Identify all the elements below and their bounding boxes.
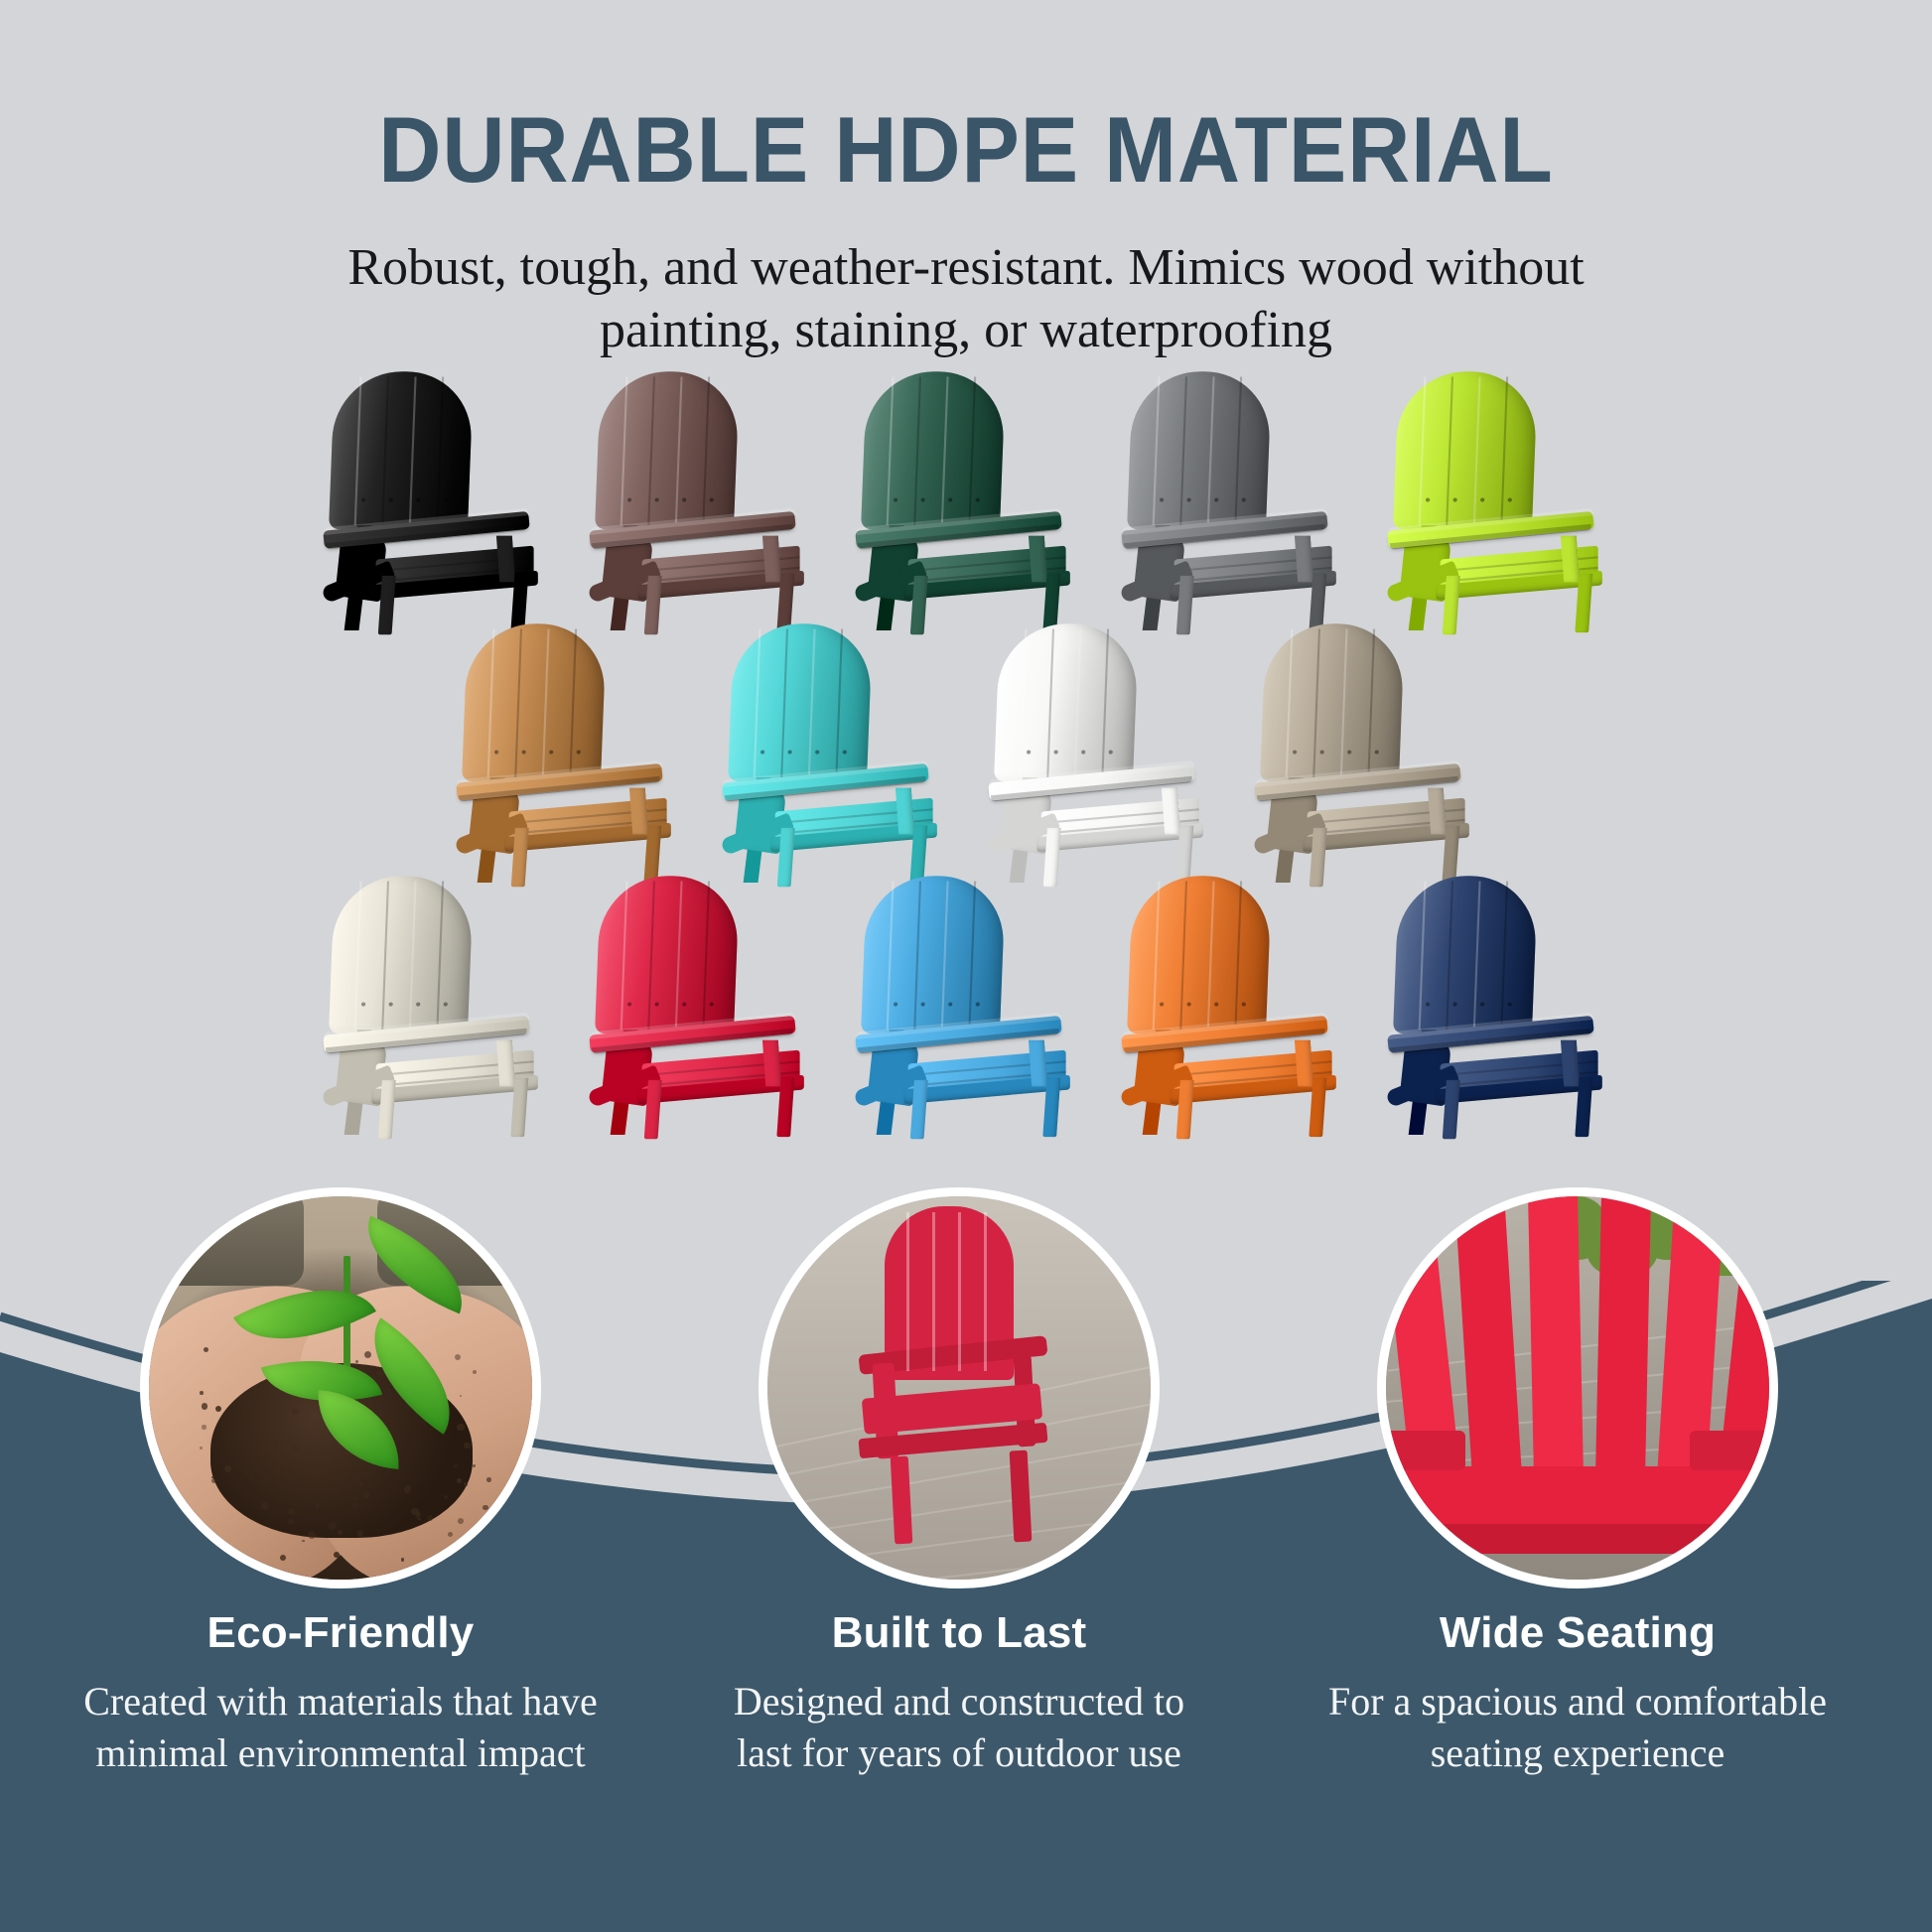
chair-arm-post (496, 1040, 515, 1087)
chair-back-shading (329, 371, 474, 529)
chair-row-3 (0, 872, 1932, 1120)
chair-gray (1111, 367, 1369, 630)
chair-arm-post (1561, 1040, 1580, 1087)
soil-speck (224, 1465, 231, 1472)
chair-arm-post (1029, 1040, 1047, 1087)
soil-speck (211, 1478, 216, 1483)
chair-row-1 (0, 367, 1932, 616)
chair-back-shading (329, 876, 474, 1034)
chair-slot (1377, 367, 1635, 630)
soil-speck (334, 1552, 340, 1558)
chair-arm-post (896, 788, 914, 835)
chair-slot (446, 620, 704, 883)
feature-description-line-2: minimal environmental impact (33, 1727, 648, 1779)
chair-front-leg (1575, 1078, 1592, 1137)
chair-orange (1111, 872, 1369, 1135)
paver-line (769, 1475, 1160, 1538)
chair-slot (313, 872, 571, 1135)
chair-slot (1111, 367, 1369, 630)
chair-slot (1377, 872, 1635, 1135)
soil-speck (457, 1478, 461, 1482)
red-chair-slat-gap (984, 1212, 987, 1371)
red-chair-seat (1380, 1466, 1778, 1532)
chair-arm-post (1029, 536, 1047, 583)
chair-lime-green (1377, 367, 1635, 630)
feature-description: Created with materials that haveminimal … (33, 1676, 648, 1779)
chair-front-leg (1443, 1080, 1460, 1139)
chair-slot (712, 620, 970, 883)
chair-arm-post (496, 536, 515, 583)
feature-description: For a spacious and comfortableseating ex… (1270, 1676, 1885, 1779)
soil-speck (223, 1549, 230, 1556)
feature-description-line-1: Created with materials that have (33, 1676, 648, 1727)
soil-speck (292, 1408, 299, 1415)
soil-speck (448, 1532, 453, 1537)
soil-speck (357, 1530, 363, 1536)
soil-speck (209, 1553, 212, 1556)
soil-speck (364, 1351, 371, 1358)
chair-front-leg (1176, 1080, 1194, 1139)
feature-section: Eco-FriendlyCreated with materials that … (0, 1281, 1932, 1932)
feature-title: Eco-Friendly (33, 1608, 648, 1658)
soil-speck (363, 1492, 368, 1497)
chair-white (978, 620, 1236, 883)
infographic-canvas: DURABLE HDPE MATERIAL Robust, tough, and… (0, 0, 1932, 1932)
chair-black (313, 367, 571, 630)
soil-speck (458, 1518, 464, 1524)
feature-description-line-1: For a spacious and comfortable (1270, 1676, 1885, 1727)
feature-description-line-2: seating experience (1270, 1727, 1885, 1779)
hands-holding-seedling-photo (149, 1196, 532, 1580)
chair-row-2 (0, 620, 1932, 868)
feature-title: Built to Last (651, 1608, 1267, 1658)
chair-front-leg (510, 1078, 528, 1137)
red-chair-armrest-left (1377, 1431, 1465, 1470)
soil-speck (355, 1498, 358, 1501)
feature-description: Designed and constructed tolast for year… (651, 1676, 1267, 1779)
feature-image-circle (759, 1187, 1160, 1588)
soil-speck (460, 1395, 462, 1397)
red-chair-armrest-right (1690, 1431, 1778, 1470)
red-chair-back-slat (1595, 1187, 1651, 1484)
chair-back-shading (1260, 623, 1405, 781)
red-chair-front-rail (1380, 1524, 1778, 1554)
soil-speck (486, 1477, 491, 1482)
chair-dark-green (845, 367, 1103, 630)
soil-speck (211, 1557, 219, 1565)
chair-front-leg (644, 1080, 662, 1139)
chair-arm-post (762, 536, 781, 583)
soil-speck (288, 1519, 293, 1524)
chair-arm-post (1561, 536, 1580, 583)
chair-camel (446, 620, 704, 883)
chair-back-shading (595, 876, 740, 1034)
chair-back-shading (1127, 876, 1272, 1034)
red-adirondack-chair-patio-photo (767, 1196, 1151, 1580)
soil-speck (245, 1471, 248, 1474)
header: DURABLE HDPE MATERIAL Robust, tough, and… (0, 0, 1932, 362)
soil-speck (418, 1518, 420, 1520)
red-chair-part (1010, 1450, 1033, 1543)
chair-slot (845, 872, 1103, 1135)
chair-red (579, 872, 837, 1135)
chair-front-leg (1042, 1078, 1060, 1137)
chair-front-leg (378, 1080, 396, 1139)
soil-speck (288, 1508, 295, 1515)
soil-speck (461, 1560, 465, 1564)
chair-arm-post (1295, 536, 1313, 583)
feature-description-line-2: last for years of outdoor use (651, 1727, 1267, 1779)
soil-speck (329, 1522, 337, 1530)
soil-speck (280, 1555, 286, 1561)
soil-speck (404, 1485, 411, 1492)
chair-light-blue (845, 872, 1103, 1135)
chair-slot (579, 367, 837, 630)
chair-brown (579, 367, 837, 630)
paver-line (768, 1551, 1160, 1588)
chair-back-shading (462, 623, 607, 781)
feature-image-circle (1377, 1187, 1778, 1588)
chair-back-shading (1127, 371, 1272, 529)
chair-front-leg (910, 1080, 928, 1139)
chair-slot (579, 872, 837, 1135)
chair-khaki (1244, 620, 1502, 883)
chair-slot (978, 620, 1236, 883)
chair-front-leg (776, 1078, 794, 1137)
page-title: DURABLE HDPE MATERIAL (68, 103, 1864, 197)
feature-title: Wide Seating (1270, 1608, 1885, 1658)
soil-speck (483, 1505, 488, 1511)
chair-arm-post (1428, 788, 1447, 835)
chair-back-shading (861, 876, 1006, 1034)
red-chair-slat-gap (958, 1212, 961, 1371)
soil-speck (271, 1441, 278, 1448)
chair-arm-post (762, 1040, 781, 1087)
page-subtitle: Robust, tough, and weather-resistant. Mi… (0, 236, 1932, 362)
sleeve-cuff (155, 1190, 304, 1286)
soil-speck (308, 1531, 316, 1539)
soil-speck (485, 1512, 492, 1519)
chair-ivory (313, 872, 571, 1135)
chair-back-shading (595, 371, 740, 529)
red-chair-slat-gap (932, 1212, 935, 1371)
chair-slot (1244, 620, 1502, 883)
chair-arm-post (1295, 1040, 1313, 1087)
chair-back-shading (728, 623, 873, 781)
soil-speck (200, 1391, 204, 1395)
chair-back-shading (861, 371, 1006, 529)
soil-speck (359, 1483, 362, 1486)
soil-speck (464, 1443, 470, 1449)
soil-speck (202, 1403, 207, 1409)
soil-speck (202, 1425, 206, 1429)
chair-arm-post (629, 788, 648, 835)
chair-back-shading (994, 623, 1139, 781)
feature-description-line-1: Designed and constructed to (651, 1676, 1267, 1727)
chair-front-leg (1309, 1078, 1326, 1137)
chair-navy-blue (1377, 872, 1635, 1135)
soil-speck (427, 1515, 432, 1520)
soil-speck (200, 1447, 202, 1449)
chair-back-shading (1393, 876, 1538, 1034)
red-chair-wide-seat-closeup-photo (1386, 1196, 1769, 1580)
feature-image-circle (140, 1187, 541, 1588)
chair-slot (845, 367, 1103, 630)
chair-back-shading (1393, 371, 1538, 529)
chair-slot (313, 367, 571, 630)
subtitle-line-1: Robust, tough, and weather-resistant. Mi… (298, 236, 1634, 299)
red-chair-part (891, 1456, 913, 1545)
subtitle-line-2: painting, staining, or waterproofing (298, 299, 1634, 361)
chair-slot (1111, 872, 1369, 1135)
soil-speck (351, 1503, 358, 1510)
chair-arm-post (1162, 788, 1180, 835)
red-chair-back-slat (1528, 1187, 1584, 1484)
red-chair-slat-gap (906, 1212, 909, 1371)
soil-speck (250, 1476, 253, 1479)
chair-turquoise (712, 620, 970, 883)
